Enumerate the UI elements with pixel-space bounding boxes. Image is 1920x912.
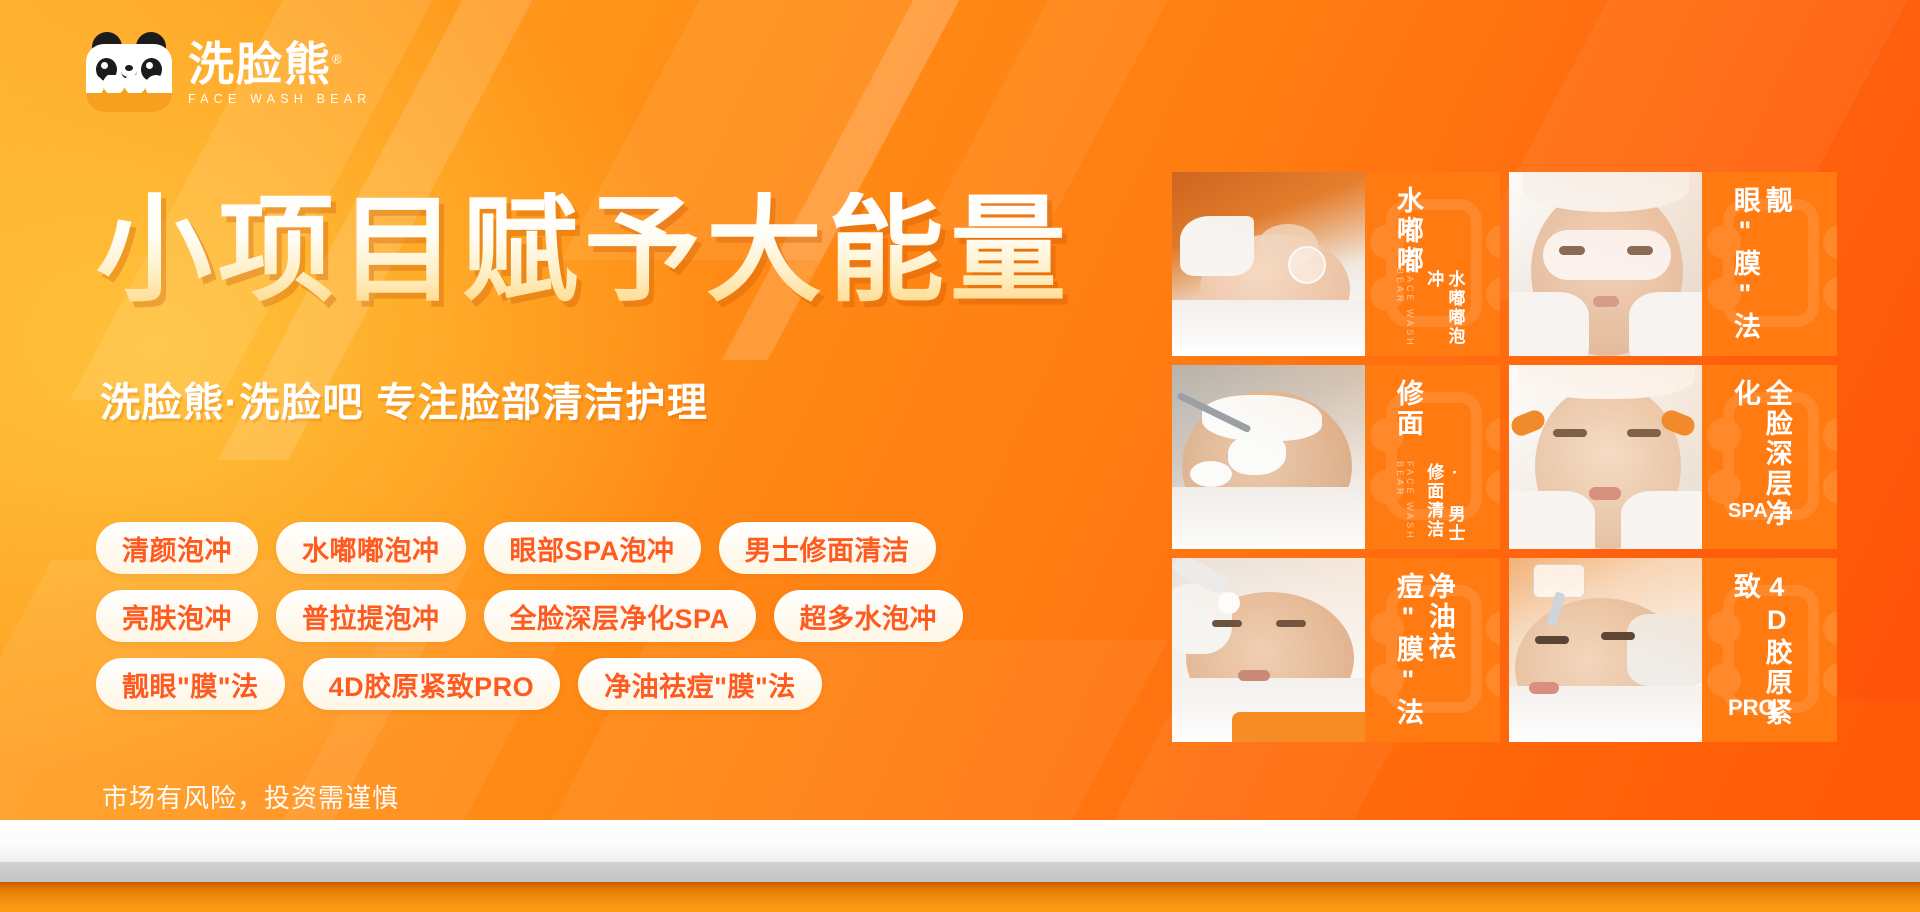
cell-title: 修面 <box>1391 379 1423 439</box>
bottom-bars <box>0 820 1920 912</box>
cell-title: 靓眼"膜"法 <box>1728 186 1792 356</box>
cell-watermark: FACE WASH BEAR <box>1395 268 1415 356</box>
treatment-photo <box>1172 558 1365 742</box>
gallery-cell[interactable]: 水嘟嘟 FACE WASH BEAR 水嘟嘟泡冲 <box>1172 172 1500 356</box>
cell-caption-panel: FACE WASH BEAR 全脸深层净化 SPA <box>1702 365 1837 549</box>
page-subtitle: 洗脸熊·洗脸吧 专注脸部清洁护理 <box>100 370 708 428</box>
page-title: 小项目赋予大能量 <box>96 192 1072 308</box>
gallery-cell[interactable]: FACE WASH BEAR 全脸深层净化 SPA <box>1509 365 1837 549</box>
gallery-cell[interactable]: 净油祛痘"膜"法 <box>1172 558 1500 742</box>
tag-row: 清颜泡冲 水嘟嘟泡冲 眼部SPA泡冲 男士修面清洁 <box>96 522 1126 574</box>
cell-caption-panel: FACE WASH BEAR 靓眼"膜"法 <box>1702 172 1837 356</box>
cell-title: 净油祛痘"膜"法 <box>1391 572 1455 742</box>
service-tag[interactable]: 普拉提泡冲 <box>276 590 466 642</box>
service-tag[interactable]: 眼部SPA泡冲 <box>484 522 701 574</box>
cell-watermark: FACE WASH BEAR <box>1395 461 1415 549</box>
brand-name-cn: 洗脸熊® <box>188 40 371 88</box>
cell-subtitle: 水嘟嘟泡冲 <box>1423 270 1466 356</box>
cell-caption-panel: FACE WASH BEAR 4D胶原紧致 PRO <box>1702 558 1837 742</box>
tag-row: 亮肤泡冲 普拉提泡冲 全脸深层净化SPA 超多水泡冲 <box>96 590 1126 642</box>
bottom-bar-grey <box>0 862 1920 882</box>
cell-caption-panel: 修面 FACE WASH BEAR · 男士修面清洁 <box>1365 365 1500 549</box>
panda-face-icon <box>86 44 172 112</box>
gallery-cell[interactable]: FACE WASH BEAR 靓眼"膜"法 <box>1509 172 1837 356</box>
bottom-bar-white <box>0 820 1920 862</box>
service-tag[interactable]: 全脸深层净化SPA <box>484 590 756 642</box>
service-tag[interactable]: 亮肤泡冲 <box>96 590 258 642</box>
registered-mark: ® <box>332 52 344 67</box>
cell-subtitle: · 男士修面清洁 <box>1423 463 1466 549</box>
treatment-photo <box>1172 172 1365 356</box>
foam-icon <box>86 84 172 112</box>
cell-caption-panel: 水嘟嘟 FACE WASH BEAR 水嘟嘟泡冲 <box>1365 172 1500 356</box>
cell-subtitle: PRO <box>1728 694 1776 722</box>
cell-caption-panel: 净油祛痘"膜"法 <box>1365 558 1500 742</box>
cell-title: 水嘟嘟 <box>1391 186 1423 276</box>
service-tag[interactable]: 清颜泡冲 <box>96 522 258 574</box>
treatment-photo <box>1509 172 1702 356</box>
bottom-bar-orange <box>0 882 1920 912</box>
service-photo-grid: 水嘟嘟 FACE WASH BEAR 水嘟嘟泡冲 FACE WASH BEAR <box>1172 172 1837 742</box>
brand-logo-text: 洗脸熊® FACE WASH BEAR <box>188 40 371 106</box>
service-tag[interactable]: 靓眼"膜"法 <box>96 658 285 710</box>
gallery-cell[interactable]: 修面 FACE WASH BEAR · 男士修面清洁 <box>1172 365 1500 549</box>
tag-row: 靓眼"膜"法 4D胶原紧致PRO 净油祛痘"膜"法 <box>96 658 1126 710</box>
banner-stage: 洗脸熊® FACE WASH BEAR 小项目赋予大能量 洗脸熊·洗脸吧 专注脸… <box>0 0 1920 912</box>
service-tag-list: 清颜泡冲 水嘟嘟泡冲 眼部SPA泡冲 男士修面清洁 亮肤泡冲 普拉提泡冲 全脸深… <box>96 522 1126 726</box>
service-tag[interactable]: 净油祛痘"膜"法 <box>578 658 822 710</box>
service-tag[interactable]: 水嘟嘟泡冲 <box>276 522 466 574</box>
gallery-cell[interactable]: FACE WASH BEAR 4D胶原紧致 PRO <box>1509 558 1837 742</box>
treatment-photo <box>1509 365 1702 549</box>
service-tag[interactable]: 男士修面清洁 <box>719 522 936 574</box>
risk-disclaimer: 市场有风险，投资需谨慎 <box>102 778 399 815</box>
brand-name-en: FACE WASH BEAR <box>188 92 371 106</box>
treatment-photo <box>1509 558 1702 742</box>
treatment-photo <box>1172 365 1365 549</box>
brand-logo[interactable]: 洗脸熊® FACE WASH BEAR <box>86 30 371 116</box>
service-tag[interactable]: 4D胶原紧致PRO <box>303 658 561 710</box>
cell-subtitle: SPA <box>1728 499 1768 524</box>
brand-name-cn-text: 洗脸熊 <box>188 38 332 90</box>
panda-logo-icon <box>86 30 172 116</box>
service-tag[interactable]: 超多水泡冲 <box>774 590 964 642</box>
